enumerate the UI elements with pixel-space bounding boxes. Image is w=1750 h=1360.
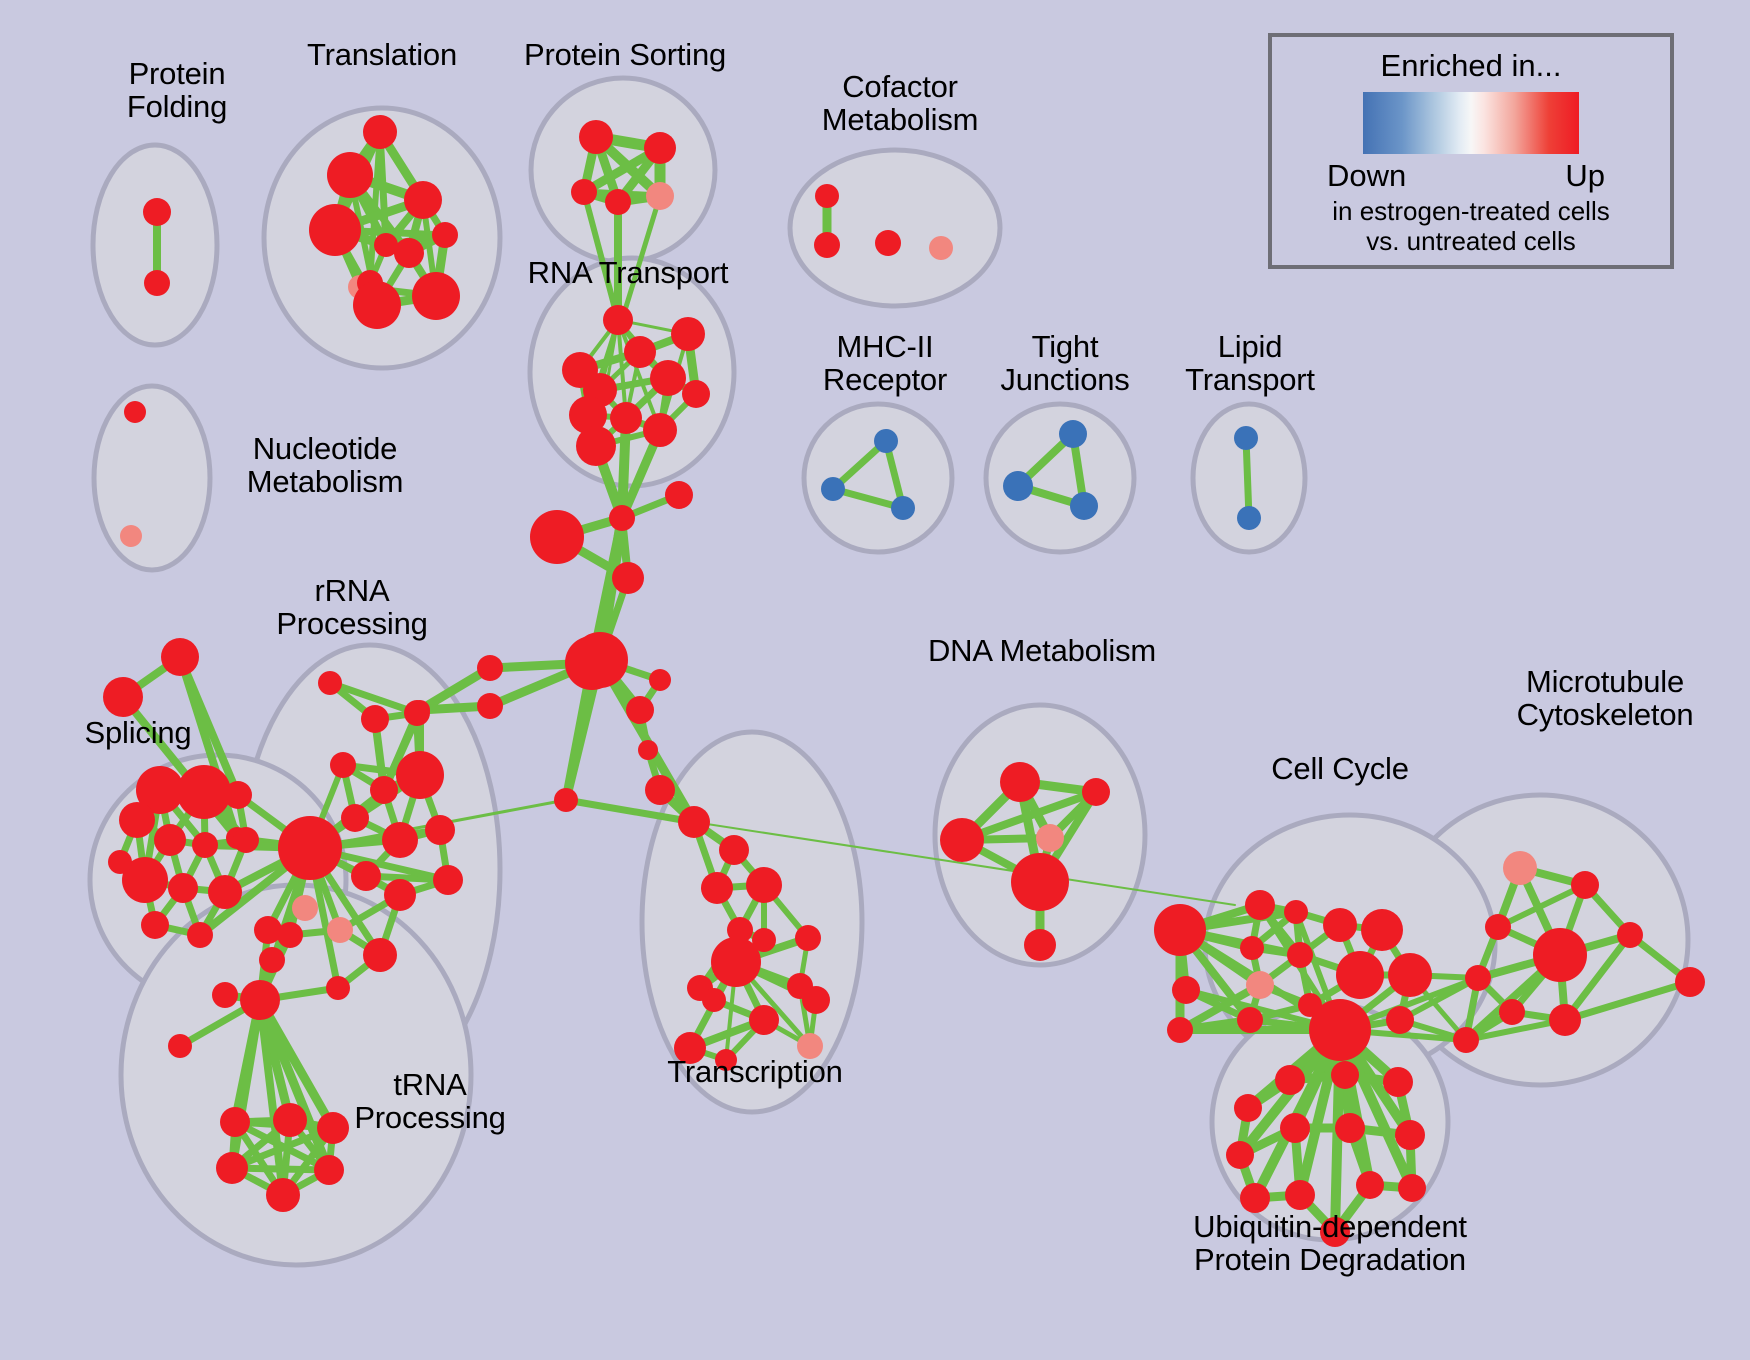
node: [144, 270, 170, 296]
node: [702, 988, 726, 1012]
node: [425, 815, 455, 845]
node: [554, 788, 578, 812]
node: [1323, 908, 1357, 942]
node: [370, 776, 398, 804]
node: [612, 562, 644, 594]
node: [1082, 778, 1110, 806]
cluster-label-ubiquitin-protein-degradation: Ubiquitin-dependent Protein Degradation: [1130, 1210, 1530, 1277]
node: [233, 827, 259, 853]
legend-high-label: Up: [1565, 158, 1605, 194]
node: [1503, 851, 1537, 885]
node: [874, 429, 898, 453]
node: [220, 1107, 250, 1137]
node: [1240, 936, 1264, 960]
node: [1361, 909, 1403, 951]
node: [216, 1152, 248, 1184]
node: [192, 832, 218, 858]
node: [161, 638, 199, 676]
cluster-label-protein-sorting: Protein Sorting: [500, 38, 750, 71]
node: [143, 198, 171, 226]
node: [254, 916, 282, 944]
node: [1617, 922, 1643, 948]
node: [646, 182, 674, 210]
node: [353, 281, 401, 329]
node: [1398, 1174, 1426, 1202]
node: [326, 976, 350, 1000]
node: [1234, 1094, 1262, 1122]
node: [624, 336, 656, 368]
node: [787, 973, 813, 999]
node: [530, 510, 584, 564]
node: [1154, 904, 1206, 956]
node: [749, 1005, 779, 1035]
node: [1172, 976, 1200, 1004]
legend-title: Enriched in...: [1272, 48, 1670, 84]
node: [671, 317, 705, 351]
node: [1245, 890, 1275, 920]
node: [644, 132, 676, 164]
node: [609, 505, 635, 531]
node: [1280, 1113, 1310, 1143]
node: [649, 669, 671, 691]
enrichment-network-figure: Protein Folding Translation Protein Sort…: [0, 0, 1750, 1360]
node: [1309, 999, 1371, 1061]
cluster-label-cofactor-metabolism: Cofactor Metabolism: [790, 70, 1010, 137]
node: [327, 917, 353, 943]
node: [719, 835, 749, 865]
hull-mhc-ii-receptor: [804, 404, 952, 552]
node: [330, 752, 356, 778]
node: [259, 947, 285, 973]
node: [605, 189, 631, 215]
node: [168, 1034, 192, 1058]
hull-cofactor-metabolism: [790, 150, 1000, 306]
legend-low-label: Down: [1327, 158, 1406, 194]
node: [477, 693, 503, 719]
node: [212, 982, 238, 1008]
node: [363, 938, 397, 972]
node: [638, 740, 658, 760]
node: [224, 781, 252, 809]
cluster-label-protein-folding: Protein Folding: [82, 57, 272, 124]
node: [875, 230, 901, 256]
node: [124, 401, 146, 423]
node: [292, 895, 318, 921]
node: [1011, 853, 1069, 911]
node: [1167, 1017, 1193, 1043]
node: [1356, 1171, 1384, 1199]
node: [1336, 951, 1384, 999]
node: [940, 818, 984, 862]
node: [1465, 965, 1491, 991]
node: [891, 496, 915, 520]
node: [650, 360, 686, 396]
node: [571, 179, 597, 205]
legend-endpoints: Down Up: [1321, 158, 1621, 196]
node: [1003, 471, 1033, 501]
node: [1395, 1120, 1425, 1150]
node: [361, 705, 389, 733]
node: [309, 204, 361, 256]
cluster-label-lipid-transport: Lipid Transport: [1155, 330, 1345, 397]
node: [1485, 914, 1511, 940]
node: [384, 879, 416, 911]
node: [1549, 1004, 1581, 1036]
node: [929, 236, 953, 260]
node: [327, 152, 373, 198]
node: [141, 911, 169, 939]
cluster-label-nucleotide-metabolism: Nucleotide Metabolism: [210, 432, 440, 499]
node: [119, 802, 155, 838]
node: [396, 751, 444, 799]
node: [1246, 971, 1274, 999]
node: [404, 181, 442, 219]
node: [1237, 506, 1261, 530]
node: [187, 922, 213, 948]
node: [394, 238, 424, 268]
node: [795, 925, 821, 951]
node: [1275, 1065, 1305, 1095]
node: [1059, 420, 1087, 448]
node: [814, 232, 840, 258]
node: [278, 816, 342, 880]
node: [1386, 1006, 1414, 1034]
node: [1571, 871, 1599, 899]
node: [412, 272, 460, 320]
node: [815, 184, 839, 208]
node: [610, 402, 642, 434]
node: [382, 822, 418, 858]
node: [273, 1103, 307, 1137]
node: [746, 867, 782, 903]
node: [240, 980, 280, 1020]
node: [477, 655, 503, 681]
cluster-label-tight-junctions: Tight Junctions: [970, 330, 1160, 397]
node: [1383, 1067, 1413, 1097]
legend-caption-line-2: vs. untreated cells: [1272, 227, 1670, 256]
node: [1226, 1141, 1254, 1169]
color-scale-bar: [1363, 92, 1579, 154]
node: [108, 850, 132, 874]
node: [266, 1178, 300, 1212]
node: [432, 222, 458, 248]
node: [120, 525, 142, 547]
node: [433, 865, 463, 895]
node: [1024, 929, 1056, 961]
node: [1335, 1113, 1365, 1143]
node: [711, 937, 761, 987]
node: [1388, 953, 1432, 997]
node: [1284, 900, 1308, 924]
node: [1533, 928, 1587, 982]
node: [1331, 1061, 1359, 1089]
node: [645, 775, 675, 805]
legend-caption-line-1: in estrogen-treated cells: [1272, 197, 1670, 226]
node: [404, 700, 430, 726]
node: [1237, 1007, 1263, 1033]
node: [1000, 762, 1040, 802]
node: [682, 380, 710, 408]
cluster-label-microtubule-cytoskeleton: Microtubule Cytoskeleton: [1460, 665, 1750, 732]
node: [701, 872, 733, 904]
node: [626, 696, 654, 724]
cluster-label-translation: Translation: [282, 38, 482, 71]
node: [318, 671, 342, 695]
node: [154, 824, 186, 856]
cluster-label-trna-processing: tRNA Processing: [330, 1068, 530, 1135]
node: [208, 875, 242, 909]
node: [168, 873, 198, 903]
node: [1675, 967, 1705, 997]
cluster-label-cell-cycle: Cell Cycle: [1240, 752, 1440, 785]
node: [314, 1155, 344, 1185]
node: [177, 765, 231, 819]
node: [1234, 426, 1258, 450]
cluster-label-dna-metabolism: DNA Metabolism: [912, 634, 1172, 667]
node: [603, 305, 633, 335]
node: [1287, 942, 1313, 968]
node: [572, 632, 628, 688]
node: [579, 120, 613, 154]
node: [1499, 999, 1525, 1025]
cluster-label-transcription: Transcription: [640, 1055, 870, 1088]
node: [1453, 1027, 1479, 1053]
node: [103, 677, 143, 717]
node: [821, 477, 845, 501]
node: [678, 806, 710, 838]
hull-nucleotide-metabolism: [94, 386, 210, 570]
node: [363, 115, 397, 149]
node: [665, 481, 693, 509]
legend-box: Enriched in... Down Up in estrogen-treat…: [1268, 33, 1674, 269]
cluster-label-rna-transport: RNA Transport: [508, 256, 748, 289]
cluster-label-rrna-processing: rRNA Processing: [252, 574, 452, 641]
node: [1070, 492, 1098, 520]
node: [1036, 824, 1064, 852]
node: [1285, 1180, 1315, 1210]
node: [643, 413, 677, 447]
node: [341, 804, 369, 832]
cluster-label-mhc-ii-receptor: MHC-II Receptor: [790, 330, 980, 397]
node: [576, 426, 616, 466]
cluster-label-splicing: Splicing: [58, 716, 218, 749]
node: [351, 861, 381, 891]
